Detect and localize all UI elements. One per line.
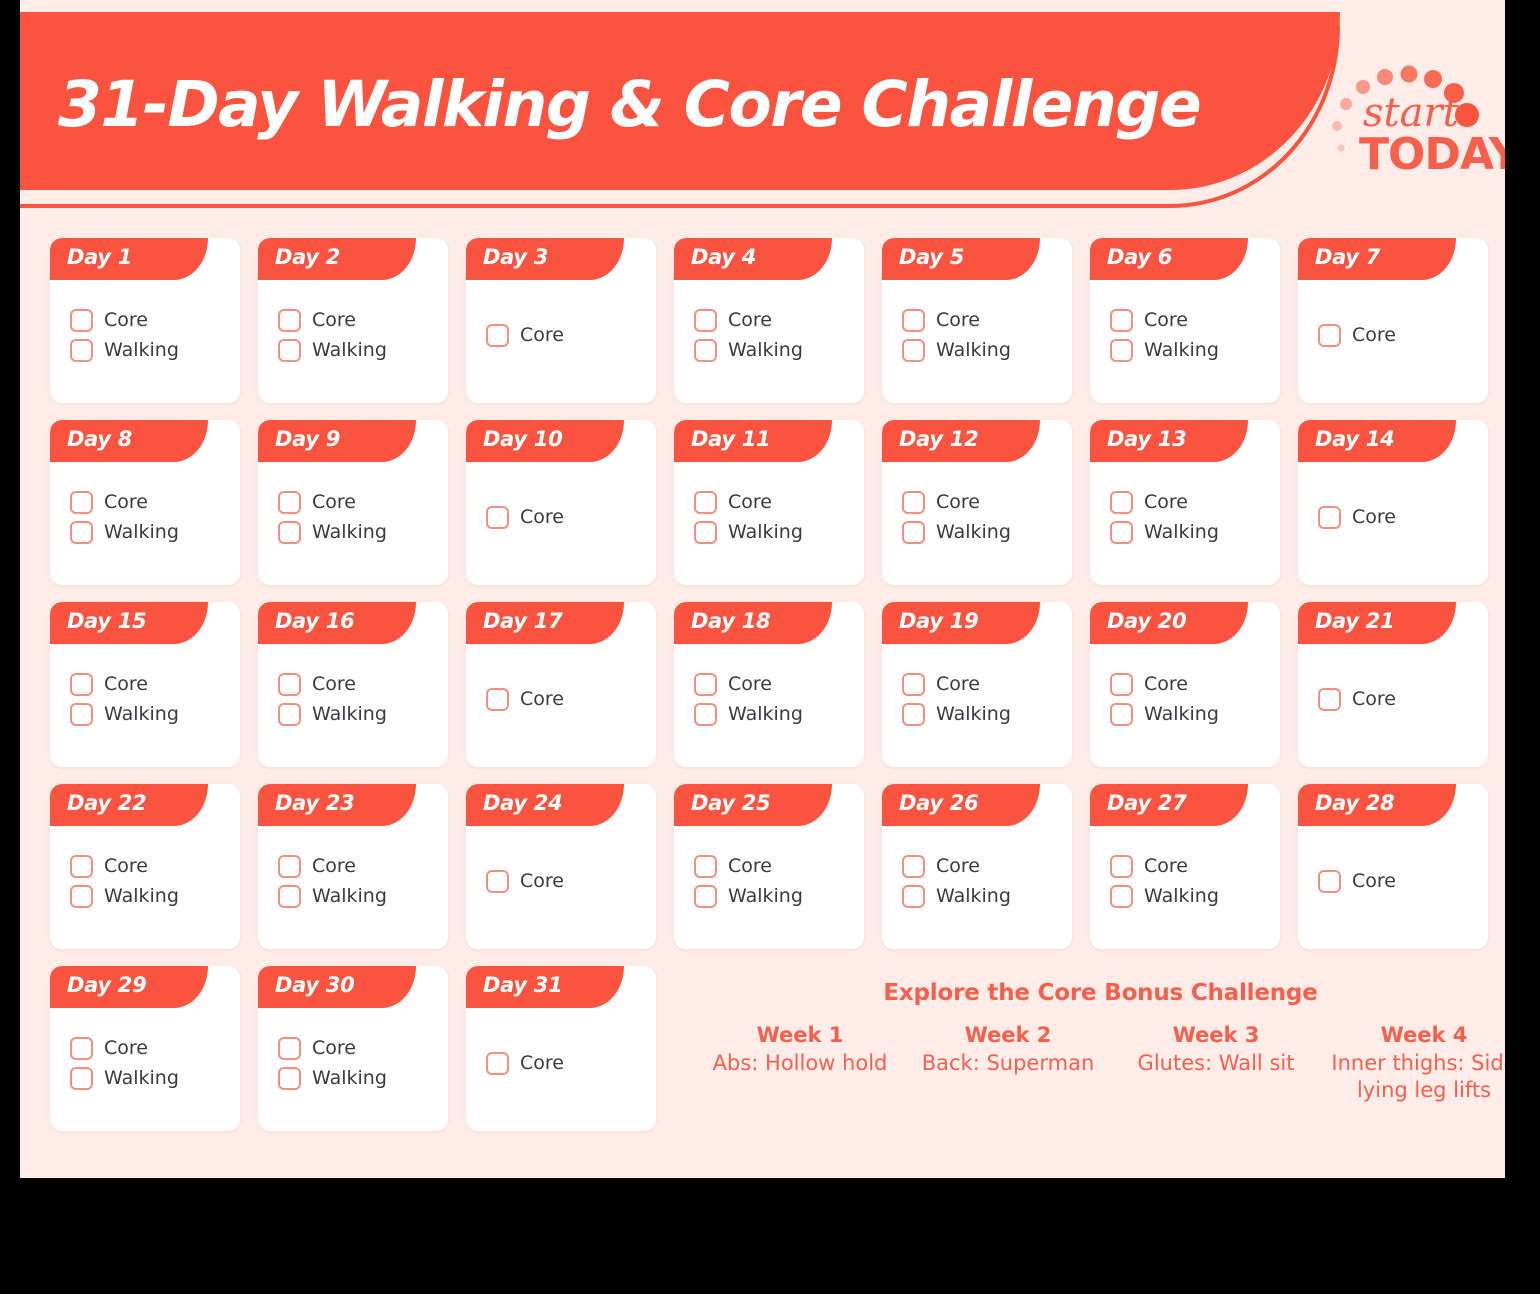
task-row[interactable]: Walking: [278, 1067, 438, 1090]
day-label: Day 5: [899, 245, 964, 269]
checkbox-core[interactable]: [278, 491, 301, 514]
day-card: Day 21Core: [1298, 602, 1488, 767]
checkbox-core[interactable]: [70, 673, 93, 696]
day-card: Day 29CoreWalking: [50, 966, 240, 1131]
task-checklist: CoreWalking: [694, 644, 854, 755]
checkbox-core[interactable]: [278, 855, 301, 878]
bonus-week-heading: Week 4: [1320, 1022, 1505, 1050]
task-label: Walking: [728, 887, 803, 906]
checkbox-core[interactable]: [278, 309, 301, 332]
task-label: Walking: [312, 887, 387, 906]
checkbox-walking[interactable]: [278, 521, 301, 544]
day-card: Day 19CoreWalking: [882, 602, 1072, 767]
task-label: Core: [1352, 326, 1396, 345]
poster-header: 31-Day Walking & Core Challenge start TO…: [20, 12, 1505, 212]
day-label: Day 28: [1315, 791, 1394, 815]
task-checklist: CoreWalking: [70, 826, 230, 937]
task-label: Core: [936, 311, 980, 330]
day-label: Day 22: [67, 791, 146, 815]
checkbox-core[interactable]: [70, 855, 93, 878]
task-checklist: CoreWalking: [1110, 280, 1270, 391]
day-label: Day 27: [1107, 791, 1186, 815]
checkbox-core[interactable]: [486, 870, 509, 893]
logo-bold-text: TODAY: [1359, 129, 1505, 180]
day-label: Day 30: [275, 973, 354, 997]
day-card: Day 4CoreWalking: [674, 238, 864, 403]
task-label: Core: [1144, 857, 1188, 876]
task-row[interactable]: Core: [486, 506, 646, 529]
bonus-week-columns: Week 1Abs: Hollow holdWeek 2Back: Superm…: [696, 1022, 1505, 1105]
checkbox-core[interactable]: [486, 688, 509, 711]
checkbox-walking[interactable]: [694, 339, 717, 362]
bonus-week-body: Inner thighs: Side lying leg lifts: [1320, 1050, 1505, 1105]
day-card: Day 16CoreWalking: [258, 602, 448, 767]
task-checklist: CoreWalking: [70, 1008, 230, 1119]
task-row[interactable]: Core: [694, 491, 854, 514]
task-label: Core: [520, 690, 564, 709]
bonus-week-column: Week 2Back: Superman: [904, 1022, 1112, 1105]
task-row[interactable]: Walking: [902, 521, 1062, 544]
day-card: Day 23CoreWalking: [258, 784, 448, 949]
day-label: Day 31: [483, 973, 562, 997]
task-checklist: CoreWalking: [278, 644, 438, 755]
checkbox-core[interactable]: [694, 673, 717, 696]
day-label: Day 13: [1107, 427, 1186, 451]
task-label: Walking: [728, 705, 803, 724]
day-card: Day 26CoreWalking: [882, 784, 1072, 949]
day-label: Day 14: [1315, 427, 1394, 451]
task-row[interactable]: Core: [694, 855, 854, 878]
checkbox-core[interactable]: [902, 855, 925, 878]
task-label: Core: [104, 675, 148, 694]
task-row[interactable]: Core: [278, 491, 438, 514]
day-label: Day 16: [275, 609, 354, 633]
task-checklist: CoreWalking: [278, 1008, 438, 1119]
task-checklist: CoreWalking: [278, 462, 438, 573]
checkbox-walking[interactable]: [694, 703, 717, 726]
core-bonus-section: Explore the Core Bonus Challenge Week 1A…: [696, 980, 1505, 1160]
task-row[interactable]: Core: [902, 309, 1062, 332]
day-card: Day 8CoreWalking: [50, 420, 240, 585]
task-label: Walking: [104, 523, 179, 542]
task-label: Walking: [1144, 341, 1219, 360]
day-label: Day 17: [483, 609, 562, 633]
task-label: Walking: [104, 887, 179, 906]
task-label: Core: [936, 675, 980, 694]
task-checklist: CoreWalking: [70, 462, 230, 573]
checkbox-walking[interactable]: [902, 885, 925, 908]
task-checklist: CoreWalking: [278, 280, 438, 391]
task-checklist: CoreWalking: [902, 280, 1062, 391]
task-row[interactable]: Walking: [694, 521, 854, 544]
task-label: Core: [728, 675, 772, 694]
task-checklist: Core: [1318, 462, 1478, 573]
checkbox-core[interactable]: [1318, 324, 1341, 347]
day-card: Day 7Core: [1298, 238, 1488, 403]
task-label: Core: [104, 311, 148, 330]
task-checklist: CoreWalking: [694, 462, 854, 573]
task-label: Core: [312, 311, 356, 330]
task-row[interactable]: Walking: [70, 521, 230, 544]
day-card: Day 9CoreWalking: [258, 420, 448, 585]
task-row[interactable]: Walking: [1110, 703, 1270, 726]
day-card: Day 22CoreWalking: [50, 784, 240, 949]
task-row[interactable]: Core: [1318, 324, 1478, 347]
task-row[interactable]: Core: [486, 1052, 646, 1075]
day-label: Day 8: [67, 427, 132, 451]
task-checklist: Core: [486, 1008, 646, 1119]
task-row[interactable]: Walking: [1110, 339, 1270, 362]
checkbox-walking[interactable]: [694, 885, 717, 908]
task-checklist: CoreWalking: [902, 644, 1062, 755]
day-card: Day 13CoreWalking: [1090, 420, 1280, 585]
task-row[interactable]: Core: [902, 491, 1062, 514]
day-card: Day 27CoreWalking: [1090, 784, 1280, 949]
task-label: Walking: [104, 1069, 179, 1088]
task-row[interactable]: Walking: [902, 885, 1062, 908]
task-label: Core: [1144, 311, 1188, 330]
task-label: Walking: [936, 341, 1011, 360]
day-card: Day 24Core: [466, 784, 656, 949]
checkbox-walking[interactable]: [70, 339, 93, 362]
checkbox-core[interactable]: [486, 1052, 509, 1075]
checkbox-core[interactable]: [1110, 855, 1133, 878]
bonus-week-heading: Week 2: [904, 1022, 1112, 1050]
poster-canvas: 31-Day Walking & Core Challenge start TO…: [20, 0, 1505, 1178]
bonus-section-title: Explore the Core Bonus Challenge: [696, 980, 1505, 1006]
task-label: Core: [1352, 508, 1396, 527]
day-label: Day 10: [483, 427, 562, 451]
task-row[interactable]: Core: [902, 673, 1062, 696]
bonus-week-column: Week 3Glutes: Wall sit: [1112, 1022, 1320, 1105]
checkbox-core[interactable]: [1110, 491, 1133, 514]
day-card: Day 28Core: [1298, 784, 1488, 949]
task-checklist: CoreWalking: [70, 644, 230, 755]
checkbox-walking[interactable]: [70, 885, 93, 908]
task-row[interactable]: Walking: [694, 885, 854, 908]
day-card: Day 15CoreWalking: [50, 602, 240, 767]
task-checklist: CoreWalking: [694, 280, 854, 391]
page-title: 31-Day Walking & Core Challenge: [58, 68, 1200, 141]
day-label: Day 21: [1315, 609, 1394, 633]
bonus-week-heading: Week 3: [1112, 1022, 1320, 1050]
day-label: Day 29: [67, 973, 146, 997]
day-card: Day 1CoreWalking: [50, 238, 240, 403]
task-label: Core: [520, 508, 564, 527]
task-row[interactable]: Walking: [278, 703, 438, 726]
task-checklist: CoreWalking: [902, 826, 1062, 937]
day-card: Day 31Core: [466, 966, 656, 1131]
task-row[interactable]: Core: [70, 855, 230, 878]
task-label: Core: [1144, 675, 1188, 694]
task-row[interactable]: Core: [278, 855, 438, 878]
day-card: Day 2CoreWalking: [258, 238, 448, 403]
checkbox-walking[interactable]: [1110, 521, 1133, 544]
task-row[interactable]: Walking: [1110, 521, 1270, 544]
task-label: Core: [1144, 493, 1188, 512]
task-label: Walking: [312, 341, 387, 360]
day-label: Day 4: [691, 245, 756, 269]
task-label: Core: [312, 675, 356, 694]
day-label: Day 2: [275, 245, 340, 269]
task-label: Core: [1352, 690, 1396, 709]
day-label: Day 24: [483, 791, 562, 815]
task-row[interactable]: Walking: [1110, 885, 1270, 908]
task-row[interactable]: Core: [278, 309, 438, 332]
task-label: Core: [728, 311, 772, 330]
task-row[interactable]: Core: [1318, 688, 1478, 711]
task-label: Walking: [312, 1069, 387, 1088]
task-row[interactable]: Core: [1110, 491, 1270, 514]
task-label: Core: [936, 857, 980, 876]
checkbox-walking[interactable]: [278, 703, 301, 726]
task-label: Walking: [936, 523, 1011, 542]
day-card: Day 11CoreWalking: [674, 420, 864, 585]
task-row[interactable]: Core: [486, 324, 646, 347]
day-label: Day 23: [275, 791, 354, 815]
day-card: Day 20CoreWalking: [1090, 602, 1280, 767]
day-card: Day 25CoreWalking: [674, 784, 864, 949]
checkbox-core[interactable]: [278, 1037, 301, 1060]
checkbox-core[interactable]: [70, 491, 93, 514]
checkbox-walking[interactable]: [902, 339, 925, 362]
bonus-week-body: Glutes: Wall sit: [1112, 1050, 1320, 1078]
task-label: Core: [104, 493, 148, 512]
task-label: Core: [312, 857, 356, 876]
task-row[interactable]: Walking: [902, 703, 1062, 726]
start-today-logo: start TODAY: [1315, 46, 1505, 186]
checkbox-core[interactable]: [1110, 673, 1133, 696]
checkbox-core[interactable]: [486, 506, 509, 529]
day-label: Day 18: [691, 609, 770, 633]
checkbox-walking[interactable]: [1110, 339, 1133, 362]
task-checklist: CoreWalking: [1110, 462, 1270, 573]
task-label: Walking: [1144, 887, 1219, 906]
task-row[interactable]: Core: [278, 673, 438, 696]
day-label: Day 6: [1107, 245, 1172, 269]
day-label: Day 3: [483, 245, 548, 269]
task-label: Core: [104, 1039, 148, 1058]
checkbox-core[interactable]: [70, 309, 93, 332]
day-card: Day 6CoreWalking: [1090, 238, 1280, 403]
day-label: Day 11: [691, 427, 770, 451]
task-row[interactable]: Core: [694, 673, 854, 696]
task-row[interactable]: Walking: [278, 339, 438, 362]
task-label: Core: [104, 857, 148, 876]
checkbox-core[interactable]: [694, 855, 717, 878]
task-row[interactable]: Core: [70, 1037, 230, 1060]
task-row[interactable]: Walking: [278, 521, 438, 544]
checkbox-walking[interactable]: [278, 339, 301, 362]
day-card: Day 5CoreWalking: [882, 238, 1072, 403]
task-row[interactable]: Walking: [70, 703, 230, 726]
checkbox-core[interactable]: [486, 324, 509, 347]
day-label: Day 15: [67, 609, 146, 633]
task-row[interactable]: Core: [70, 673, 230, 696]
checkbox-walking[interactable]: [694, 521, 717, 544]
checkbox-walking[interactable]: [70, 521, 93, 544]
task-checklist: CoreWalking: [70, 280, 230, 391]
task-checklist: Core: [486, 826, 646, 937]
day-label: Day 1: [67, 245, 132, 269]
task-row[interactable]: Walking: [694, 703, 854, 726]
task-label: Core: [728, 493, 772, 512]
task-checklist: CoreWalking: [694, 826, 854, 937]
checkbox-core[interactable]: [902, 309, 925, 332]
task-row[interactable]: Core: [278, 1037, 438, 1060]
checkbox-walking[interactable]: [902, 521, 925, 544]
bonus-week-column: Week 1Abs: Hollow hold: [696, 1022, 904, 1105]
task-row[interactable]: Core: [1318, 870, 1478, 893]
task-row[interactable]: Walking: [70, 885, 230, 908]
day-card: Day 17Core: [466, 602, 656, 767]
day-label: Day 25: [691, 791, 770, 815]
checkbox-core[interactable]: [902, 673, 925, 696]
task-checklist: Core: [486, 280, 646, 391]
day-label: Day 26: [899, 791, 978, 815]
bonus-week-column: Week 4Inner thighs: Side lying leg lifts: [1320, 1022, 1505, 1105]
task-label: Walking: [104, 341, 179, 360]
task-label: Walking: [1144, 705, 1219, 724]
task-row[interactable]: Core: [1110, 673, 1270, 696]
task-label: Walking: [104, 705, 179, 724]
task-label: Core: [312, 1039, 356, 1058]
task-label: Core: [1352, 872, 1396, 891]
task-checklist: CoreWalking: [1110, 826, 1270, 937]
task-label: Core: [520, 872, 564, 891]
task-label: Core: [520, 1054, 564, 1073]
task-row[interactable]: Core: [1110, 309, 1270, 332]
task-label: Walking: [936, 887, 1011, 906]
day-card: Day 14Core: [1298, 420, 1488, 585]
checkbox-walking[interactable]: [1110, 703, 1133, 726]
task-row[interactable]: Core: [486, 688, 646, 711]
task-checklist: Core: [1318, 644, 1478, 755]
task-checklist: CoreWalking: [278, 826, 438, 937]
task-checklist: Core: [486, 644, 646, 755]
bonus-week-body: Abs: Hollow hold: [696, 1050, 904, 1078]
task-row[interactable]: Walking: [70, 1067, 230, 1090]
checkbox-walking[interactable]: [902, 703, 925, 726]
task-checklist: CoreWalking: [902, 462, 1062, 573]
task-row[interactable]: Core: [694, 309, 854, 332]
task-checklist: CoreWalking: [1110, 644, 1270, 755]
checkbox-core[interactable]: [1318, 506, 1341, 529]
task-label: Walking: [728, 341, 803, 360]
task-checklist: Core: [1318, 826, 1478, 937]
checkbox-walking[interactable]: [278, 885, 301, 908]
bonus-week-heading: Week 1: [696, 1022, 904, 1050]
task-label: Core: [312, 493, 356, 512]
task-row[interactable]: Core: [1110, 855, 1270, 878]
checkbox-walking[interactable]: [70, 703, 93, 726]
task-label: Walking: [728, 523, 803, 542]
day-card: Day 10Core: [466, 420, 656, 585]
task-checklist: Core: [486, 462, 646, 573]
checkbox-core[interactable]: [902, 491, 925, 514]
task-row[interactable]: Walking: [278, 885, 438, 908]
task-label: Walking: [1144, 523, 1219, 542]
checkbox-core[interactable]: [694, 491, 717, 514]
task-row[interactable]: Core: [486, 870, 646, 893]
day-card: Day 12CoreWalking: [882, 420, 1072, 585]
task-label: Core: [936, 493, 980, 512]
checkbox-core[interactable]: [1318, 870, 1341, 893]
checkbox-walking[interactable]: [278, 1067, 301, 1090]
checkbox-core[interactable]: [694, 309, 717, 332]
task-label: Walking: [312, 705, 387, 724]
checkbox-core[interactable]: [70, 1037, 93, 1060]
task-row[interactable]: Core: [70, 309, 230, 332]
task-row[interactable]: Walking: [902, 339, 1062, 362]
day-card: Day 18CoreWalking: [674, 602, 864, 767]
task-row[interactable]: Core: [70, 491, 230, 514]
bonus-week-body: Back: Superman: [904, 1050, 1112, 1078]
task-row[interactable]: Walking: [70, 339, 230, 362]
day-card: Day 3Core: [466, 238, 656, 403]
task-row[interactable]: Walking: [694, 339, 854, 362]
task-label: Core: [520, 326, 564, 345]
day-label: Day 12: [899, 427, 978, 451]
day-label: Day 19: [899, 609, 978, 633]
day-card: Day 30CoreWalking: [258, 966, 448, 1131]
checkbox-core[interactable]: [1110, 309, 1133, 332]
task-label: Walking: [936, 705, 1011, 724]
checkbox-walking[interactable]: [1110, 885, 1133, 908]
task-label: Walking: [312, 523, 387, 542]
task-label: Core: [728, 857, 772, 876]
task-row[interactable]: Core: [1318, 506, 1478, 529]
day-label: Day 9: [275, 427, 340, 451]
checkbox-walking[interactable]: [70, 1067, 93, 1090]
task-checklist: Core: [1318, 280, 1478, 391]
checkbox-core[interactable]: [1318, 688, 1341, 711]
day-label: Day 20: [1107, 609, 1186, 633]
day-label: Day 7: [1315, 245, 1380, 269]
task-row[interactable]: Core: [902, 855, 1062, 878]
checkbox-core[interactable]: [278, 673, 301, 696]
